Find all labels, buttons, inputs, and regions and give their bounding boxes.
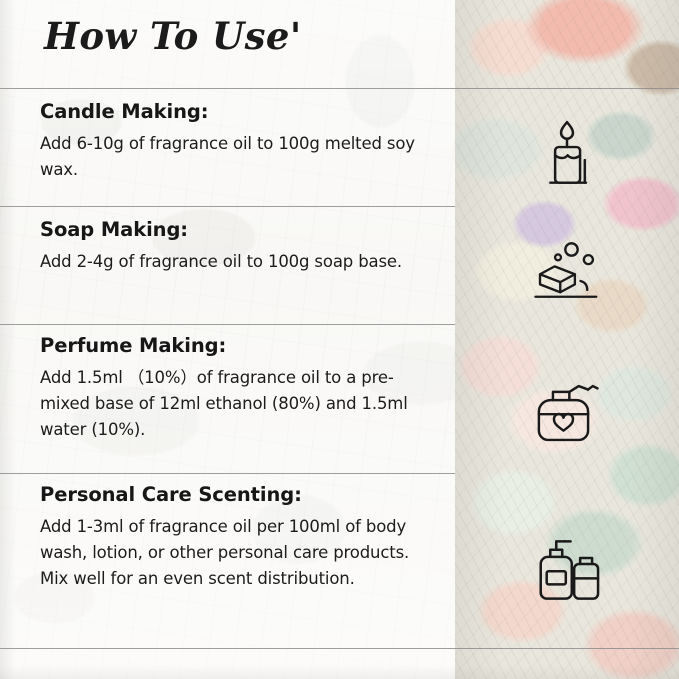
page-title: How To Use': [44, 14, 302, 58]
text-column: How To Use' Candle Making: Add 6-10g of …: [0, 0, 455, 679]
section-perfume-making: Perfume Making: Add 1.5ml （10%）of fragra…: [40, 334, 440, 443]
soap-bar-bubbles-icon: [526, 236, 608, 308]
section-body: Add 1-3ml of fragrance oil per 100ml of …: [40, 514, 440, 592]
bottles-lotion-icon: [524, 530, 610, 610]
section-heading: Soap Making:: [40, 218, 440, 241]
section-body: Add 2-4g of fragrance oil to 100g soap b…: [40, 249, 440, 275]
divider-4: [0, 648, 679, 649]
section-soap-making: Soap Making: Add 2-4g of fragrance oil t…: [40, 218, 440, 275]
icon-cell-perfume: [455, 340, 679, 485]
section-heading: Personal Care Scenting:: [40, 483, 440, 506]
how-to-use-infographic: How To Use' Candle Making: Add 6-10g of …: [0, 0, 679, 679]
icon-cell-soap: [455, 214, 679, 329]
icon-cell-candle: [455, 92, 679, 214]
section-heading: Perfume Making:: [40, 334, 440, 357]
divider-3: [0, 473, 455, 474]
icon-cell-personal-care: [455, 490, 679, 650]
section-personal-care-scenting: Personal Care Scenting: Add 1-3ml of fra…: [40, 483, 440, 592]
candle-icon: [529, 115, 605, 191]
section-candle-making: Candle Making: Add 6-10g of fragrance oi…: [40, 100, 440, 183]
perfume-atomizer-heart-icon: [524, 372, 610, 454]
divider-2: [0, 324, 455, 325]
section-heading: Candle Making:: [40, 100, 440, 123]
section-body: Add 1.5ml （10%）of fragrance oil to a pre…: [40, 365, 440, 443]
section-body: Add 6-10g of fragrance oil to 100g melte…: [40, 131, 440, 183]
divider-title: [0, 88, 679, 89]
divider-1: [0, 206, 455, 207]
icon-column: [455, 0, 679, 679]
